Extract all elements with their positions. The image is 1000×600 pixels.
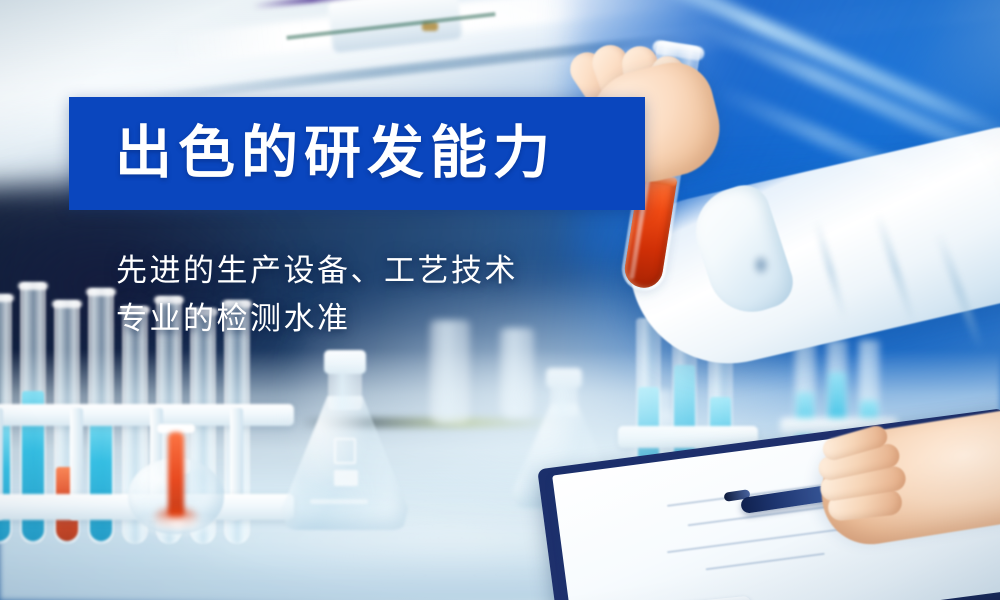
headline-band: 出色的研发能力: [69, 97, 645, 210]
subtitle-block: 先进的生产设备、工艺技术 专业的检测水准: [116, 247, 518, 343]
subtitle-line-1: 先进的生产设备、工艺技术: [116, 247, 518, 295]
lab-capability-banner: 出色的研发能力 先进的生产设备、工艺技术 专业的检测水准: [0, 0, 1000, 600]
headline-text: 出色的研发能力: [115, 125, 556, 182]
subtitle-line-2: 专业的检测水准: [116, 295, 518, 343]
